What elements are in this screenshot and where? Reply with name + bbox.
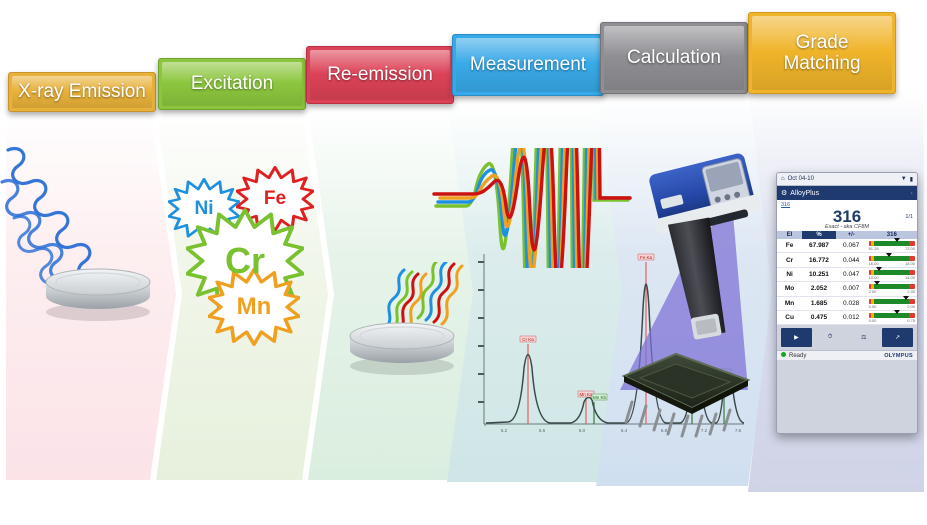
cell-error: 0.028 xyxy=(836,296,867,310)
range-min: 0.00 xyxy=(869,319,877,323)
th-element[interactable]: El xyxy=(777,231,802,239)
range-max: 0.75 xyxy=(907,319,915,323)
range-labels: 61.2872.00 xyxy=(869,247,915,251)
th-grade[interactable]: 316 xyxy=(867,231,917,239)
range-bar xyxy=(869,298,915,305)
grade-match-note: Exact - aka CF8M xyxy=(781,224,913,230)
range-labels: 10.0014.00 xyxy=(869,276,915,280)
app-name: AlloyPlus xyxy=(790,190,819,197)
device-status-bar: ⌂ Oct 04-10 ▼ ▮ xyxy=(777,173,917,186)
svg-text:Mn Ka: Mn Ka xyxy=(579,392,593,397)
range-bar xyxy=(869,269,915,276)
tab-label: Re-emission xyxy=(327,64,433,85)
range-marker xyxy=(876,267,882,271)
tab-label: Grade Matching xyxy=(757,32,887,75)
range-labels: 0.002.00 xyxy=(869,305,915,309)
tab-x-ray-emission[interactable]: X-ray Emission xyxy=(8,72,156,112)
tab-calculation[interactable]: Calculation xyxy=(600,22,748,94)
table-row[interactable]: Ni10.2510.04710.0014.00 xyxy=(777,267,917,281)
range-bar xyxy=(869,312,915,319)
range-in-spec xyxy=(874,241,909,246)
range-marker xyxy=(874,281,880,285)
cell-range: 2.002.90 xyxy=(867,282,917,296)
cell-range: 0.002.00 xyxy=(867,296,917,310)
table-row[interactable]: Fe67.9870.06761.2872.00 xyxy=(777,239,917,253)
table-row[interactable]: Mn1.6850.0280.002.00 xyxy=(777,296,917,310)
cell-range: 0.000.75 xyxy=(867,310,917,324)
grade-result: 316 1/1 316 Exact - aka CF8M xyxy=(777,200,917,231)
tab-measurement[interactable]: Measurement xyxy=(452,34,604,96)
cell-range: 10.0014.00 xyxy=(867,267,917,281)
range-marker xyxy=(894,238,900,242)
cell-percent: 2.052 xyxy=(802,282,836,296)
calculation-art xyxy=(600,140,790,460)
range-marker xyxy=(886,253,892,257)
element-symbol: Cr xyxy=(225,240,265,282)
range-labels: 2.002.90 xyxy=(869,290,915,294)
tab-label: X-ray Emission xyxy=(18,81,146,102)
composition-table: El % +/- 316 Fe67.9870.06761.2872.00Cr16… xyxy=(777,231,917,325)
tab-excitation[interactable]: Excitation xyxy=(158,58,306,110)
th-error[interactable]: +/- xyxy=(836,231,867,239)
sample-disc xyxy=(38,256,158,326)
grade-name: 316 xyxy=(781,208,913,225)
tab-label: Calculation xyxy=(627,47,721,68)
range-max: 14.00 xyxy=(905,276,915,280)
range-min: 0.00 xyxy=(869,305,877,309)
element-symbol: Fe xyxy=(264,188,286,210)
table-row[interactable]: Cr16.7720.04416.0018.00 xyxy=(777,253,917,267)
cell-error: 0.044 xyxy=(836,253,867,267)
grade-page-indicator: 1/1 xyxy=(905,214,913,220)
svg-text:6.0: 6.0 xyxy=(579,428,586,433)
wifi-icon: ▼ xyxy=(901,176,907,182)
status-date: Oct 04-10 xyxy=(788,176,814,182)
cell-error: 0.007 xyxy=(836,282,867,296)
element-symbol: Ni xyxy=(195,198,214,220)
svg-text:Cr Ka: Cr Ka xyxy=(522,337,534,342)
th-percent[interactable]: % xyxy=(802,231,836,239)
brand-logo: OLYMPUS xyxy=(884,353,913,359)
cell-element: Fe xyxy=(777,239,802,253)
range-labels: 16.0018.00 xyxy=(869,262,915,266)
table-row[interactable]: Cu0.4750.0120.000.75 xyxy=(777,310,917,324)
play-button[interactable]: ▶ xyxy=(781,328,812,347)
table-row[interactable]: Mo2.0520.0072.002.90 xyxy=(777,282,917,296)
cell-error: 0.067 xyxy=(836,239,867,253)
cell-error: 0.012 xyxy=(836,310,867,324)
range-labels: 0.000.75 xyxy=(869,319,915,323)
cell-range: 16.0018.00 xyxy=(867,253,917,267)
range-bar xyxy=(869,255,915,262)
balance-button[interactable]: ⚖ xyxy=(849,328,880,347)
device-app-bar: ⚙ AlloyPlus · xyxy=(777,186,917,200)
xray-emission-art xyxy=(0,140,180,370)
cell-range: 61.2872.00 xyxy=(867,239,917,253)
range-bar xyxy=(869,240,915,247)
cell-element: Cr xyxy=(777,253,802,267)
cell-percent: 0.475 xyxy=(802,310,836,324)
range-min: 61.28 xyxy=(869,247,879,251)
export-button[interactable]: ↗ xyxy=(882,328,913,347)
cell-element: Mn xyxy=(777,296,802,310)
gear-icon[interactable]: ⚙ xyxy=(781,189,787,197)
range-min: 16.00 xyxy=(869,262,879,266)
range-marker xyxy=(903,296,909,300)
range-max: 2.00 xyxy=(907,305,915,309)
menu-icon[interactable]: · xyxy=(911,190,913,197)
cell-percent: 1.685 xyxy=(802,296,836,310)
range-marker xyxy=(894,310,900,314)
tab-label: Excitation xyxy=(191,73,273,94)
tab-re-emission[interactable]: Re-emission xyxy=(306,46,454,104)
range-in-spec xyxy=(874,313,909,318)
timer-button[interactable]: ⏱ xyxy=(815,328,846,347)
range-min: 10.00 xyxy=(869,276,879,280)
svg-text:5.2: 5.2 xyxy=(501,428,508,433)
cell-percent: 10.251 xyxy=(802,267,836,281)
device-status-text: Ready xyxy=(789,353,806,359)
svg-text:5.6: 5.6 xyxy=(539,428,546,433)
range-max: 2.90 xyxy=(907,290,915,294)
tab-label: Measurement xyxy=(470,54,586,75)
battery-icon: ▮ xyxy=(910,176,913,183)
tab-grade-matching[interactable]: Grade Matching xyxy=(748,12,896,94)
cell-error: 0.047 xyxy=(836,267,867,281)
device-toolbar: ▶ ⏱ ⚖ ↗ xyxy=(777,325,917,350)
range-bar xyxy=(869,283,915,290)
range-max: 18.00 xyxy=(905,262,915,266)
cell-element: Cu xyxy=(777,310,802,324)
range-max: 72.00 xyxy=(905,247,915,251)
element-symbol: Mn xyxy=(237,293,272,321)
home-icon[interactable]: ⌂ xyxy=(781,176,785,182)
cell-element: Ni xyxy=(777,267,802,281)
analyzer-screen[interactable]: ⌂ Oct 04-10 ▼ ▮ ⚙ AlloyPlus · 316 1/1 31… xyxy=(776,172,918,434)
device-footer: Ready OLYMPUS xyxy=(777,350,917,360)
cell-percent: 16.772 xyxy=(802,253,836,267)
range-min: 2.00 xyxy=(869,290,877,294)
status-dot xyxy=(781,352,786,357)
cell-percent: 67.987 xyxy=(802,239,836,253)
cell-element: Mo xyxy=(777,282,802,296)
